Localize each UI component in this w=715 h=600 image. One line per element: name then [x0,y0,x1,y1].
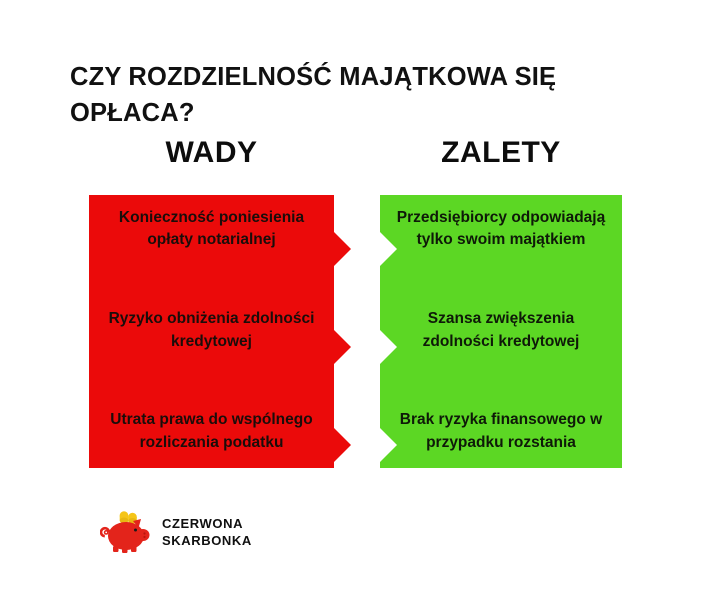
pros-panel: Przedsiębiorcy odpowiadają tylko swoim m… [380,195,622,468]
cons-item: Utrata prawa do wspólnego rozliczania po… [89,409,334,454]
cons-item: Ryzyko obniżenia zdolności kredytowej [89,308,334,353]
brand-logo: CZERWONA SKARBONKA [100,508,252,556]
brand-name-line1: CZERWONA [162,515,252,532]
pros-item: Przedsiębiorcy odpowiadają tylko swoim m… [380,207,622,252]
arrow-right-icon [334,232,351,266]
pros-item: Szansa zwiększenia zdolności kredytowej [380,308,622,353]
column-heading-pros: ZALETY [380,136,622,170]
infographic-canvas: CZY ROZDZIELNOŚĆ MAJĄTKOWA SIĘ OPŁACA? W… [0,0,715,600]
cons-panel: Konieczność poniesienia opłaty notarialn… [89,195,334,468]
page-title: CZY ROZDZIELNOŚĆ MAJĄTKOWA SIĘ OPŁACA? [70,59,650,131]
brand-name-line2: SKARBONKA [162,532,252,549]
pros-item: Brak ryzyka finansowego w przypadku rozs… [380,409,622,454]
arrow-right-icon [334,330,351,364]
cons-item: Konieczność poniesienia opłaty notarialn… [89,207,334,252]
brand-name: CZERWONA SKARBONKA [162,515,252,549]
column-heading-cons: WADY [89,136,334,170]
piggy-bank-icon [100,508,152,556]
arrow-right-icon [334,428,351,462]
